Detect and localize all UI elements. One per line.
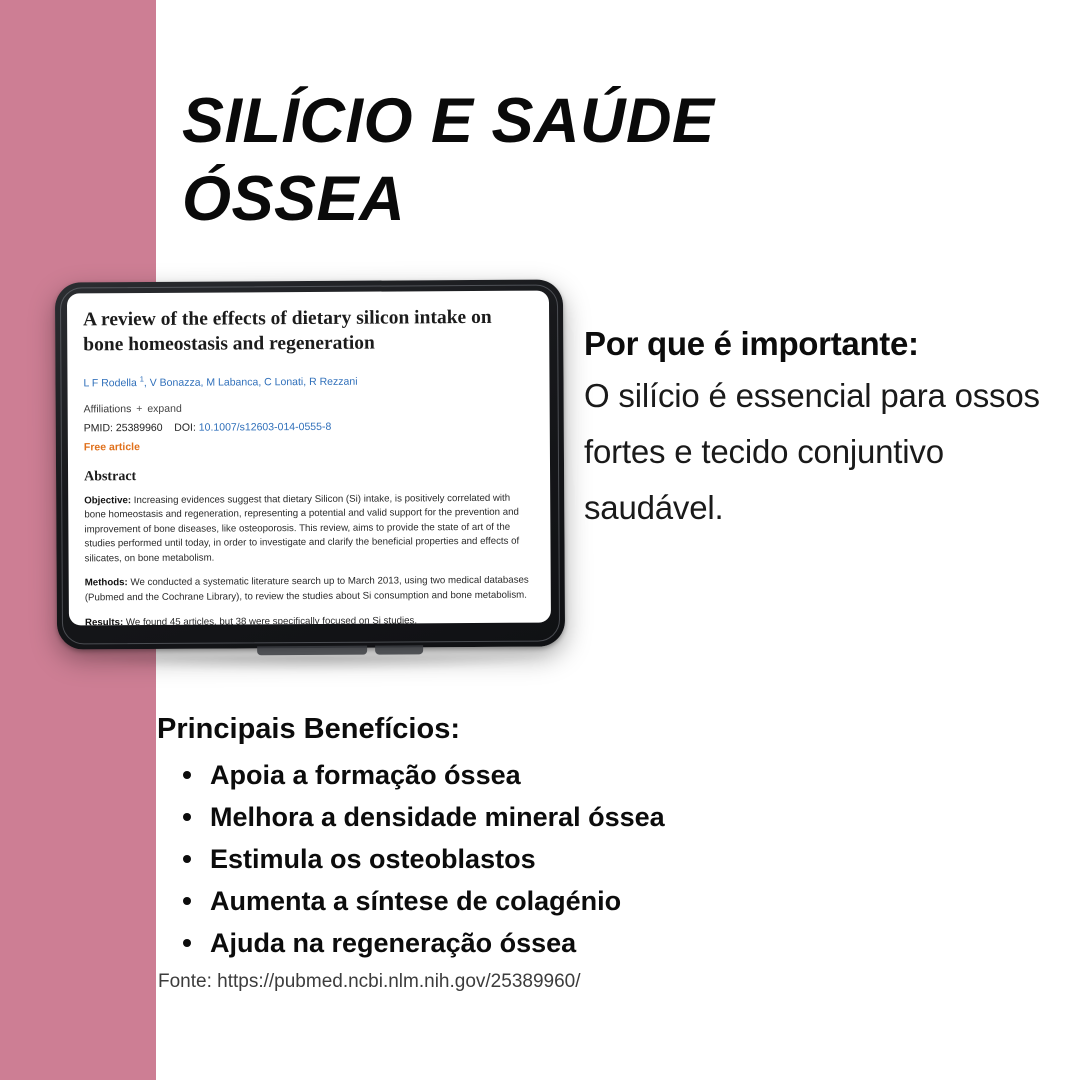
list-item: Melhora a densidade mineral óssea bbox=[183, 796, 917, 838]
source-citation[interactable]: Fonte: https://pubmed.ncbi.nlm.nih.gov/2… bbox=[158, 969, 581, 995]
list-item-label: Apoia a formação óssea bbox=[210, 760, 521, 790]
list-item: Estimula os osteoblastos bbox=[183, 838, 917, 880]
doi-link[interactable]: 10.1007/s12603-014-0555-8 bbox=[199, 420, 332, 433]
plus-icon[interactable]: + bbox=[134, 403, 144, 415]
list-item: Apoia a formação óssea bbox=[183, 754, 917, 796]
tablet-device: A review of the effects of dietary silic… bbox=[55, 279, 565, 649]
article-title: A review of the effects of dietary silic… bbox=[83, 305, 533, 358]
objective-label: Objective: bbox=[84, 495, 131, 506]
benefits-list: Apoia a formação óssea Melhora a densida… bbox=[157, 754, 917, 964]
expand-link[interactable]: expand bbox=[147, 402, 182, 414]
abstract-objective-paragraph: Objective: Increasing evidences suggest … bbox=[84, 491, 534, 567]
pubmed-article-page: A review of the effects of dietary silic… bbox=[67, 291, 551, 626]
benefits-section: Principais Benefícios: Apoia a formação … bbox=[157, 710, 917, 964]
pmid-value: 25389960 bbox=[116, 421, 163, 433]
page-title: SILÍCIO E SAÚDE ÓSSEA bbox=[182, 82, 882, 238]
methods-text: We conducted a systematic literature sea… bbox=[85, 575, 529, 603]
authors-text: L F Rodella 1, V Bonazza, M Labanca, C L… bbox=[83, 375, 357, 389]
benefits-heading: Principais Benefícios: bbox=[157, 710, 917, 748]
identifiers-row: PMID: 25389960 DOI: 10.1007/s12603-014-0… bbox=[84, 418, 534, 436]
list-item: Aumenta a síntese de colagénio bbox=[183, 880, 917, 922]
bullet-icon bbox=[183, 771, 191, 779]
abstract-results-paragraph: Results: We found 45 articles, but 38 we… bbox=[85, 613, 535, 625]
importance-section: Por que é importante: O silício é essenc… bbox=[584, 322, 1076, 536]
results-text: We found 45 articles, but 38 were specif… bbox=[123, 615, 417, 625]
importance-body: O silício é essencial para ossos fortes … bbox=[584, 368, 1076, 536]
tablet-screen: A review of the effects of dietary silic… bbox=[67, 291, 551, 626]
bullet-icon bbox=[183, 813, 191, 821]
slide-canvas: SILÍCIO E SAÚDE ÓSSEA A review of the ef… bbox=[0, 0, 1080, 1080]
list-item-label: Aumenta a síntese de colagénio bbox=[210, 886, 621, 916]
article-authors[interactable]: L F Rodella 1, V Bonazza, M Labanca, C L… bbox=[83, 369, 533, 391]
tablet-bottom-notch-left bbox=[257, 646, 367, 656]
affiliations-label: Affiliations bbox=[84, 403, 132, 415]
methods-label: Methods: bbox=[85, 578, 128, 589]
importance-heading: Por que é importante: bbox=[584, 322, 1076, 366]
objective-text: Increasing evidences suggest that dietar… bbox=[84, 492, 519, 564]
bullet-icon bbox=[183, 897, 191, 905]
results-label: Results: bbox=[85, 617, 123, 626]
abstract-heading: Abstract bbox=[84, 466, 534, 485]
affiliations-row[interactable]: Affiliations + expand bbox=[84, 399, 534, 417]
tablet-bottom-notch-right bbox=[375, 645, 423, 654]
list-item-label: Ajuda na regeneração óssea bbox=[210, 928, 576, 958]
free-article-badge[interactable]: Free article bbox=[84, 437, 534, 455]
list-item-label: Melhora a densidade mineral óssea bbox=[210, 802, 665, 832]
pmid-label: PMID: bbox=[84, 422, 113, 434]
list-item-label: Estimula os osteoblastos bbox=[210, 844, 536, 874]
bullet-icon bbox=[183, 939, 191, 947]
bullet-icon bbox=[183, 855, 191, 863]
doi-label: DOI: bbox=[174, 421, 196, 433]
list-item: Ajuda na regeneração óssea bbox=[183, 922, 917, 964]
tablet-drop-shadow bbox=[80, 656, 550, 672]
abstract-methods-paragraph: Methods: We conducted a systematic liter… bbox=[85, 574, 535, 606]
